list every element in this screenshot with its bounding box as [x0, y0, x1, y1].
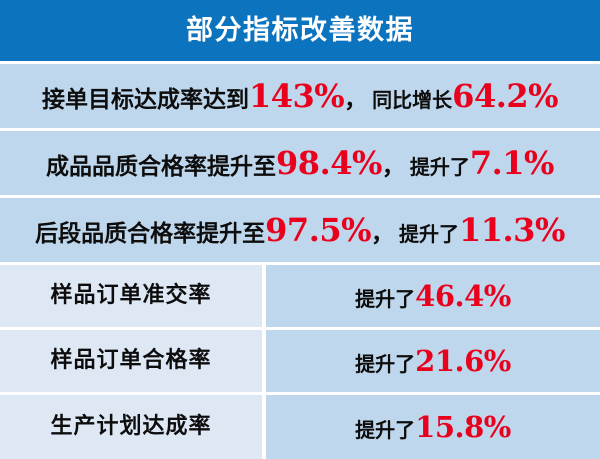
row-mid-text: 提升了 — [399, 224, 459, 244]
metric-value: 46.4% — [415, 282, 511, 311]
infographic-poster: 部分指标改善数据 接单目标达成率达到 143% ， 同比增长 64.2% 成品品… — [0, 0, 600, 452]
row-mid-text: 同比增长 — [372, 90, 452, 110]
table-row: 接单目标达成率达到 143% ， 同比增长 64.2% — [0, 64, 600, 128]
table-cell-value: 提升了 46.4% — [266, 265, 600, 327]
row-value-secondary: 7.1% — [470, 147, 554, 179]
metrics-table: 接单目标达成率达到 143% ， 同比增长 64.2% 成品品质合格率提升至 9… — [0, 61, 600, 459]
row-lead-text: 接单目标达成率达到 — [42, 89, 249, 112]
metric-label: 样品订单合格率 — [50, 350, 211, 372]
row-value-primary: 97.5% — [265, 214, 371, 246]
row-value-primary: 98.4% — [276, 147, 382, 179]
value-prefix: 提升了 — [355, 354, 415, 374]
table-cell-label: 样品订单准交率 — [0, 265, 262, 327]
table-row: 样品订单准交率 提升了 46.4% — [0, 265, 600, 327]
row-value-primary: 143% — [249, 80, 344, 112]
metric-value: 21.6% — [415, 347, 511, 376]
row-value-secondary: 11.3% — [459, 214, 565, 246]
table-cell-value: 提升了 15.8% — [266, 395, 600, 459]
row-lead-text: 成品品质合格率提升至 — [46, 156, 276, 179]
row-lead-text: 后段品质合格率提升至 — [35, 223, 265, 246]
table-row: 生产计划达成率 提升了 15.8% — [0, 395, 600, 459]
table-row: 后段品质合格率提升至 97.5% ， 提升了 11.3% — [0, 198, 600, 262]
metric-value: 15.8% — [415, 413, 511, 442]
table-cell-label: 样品订单合格率 — [0, 330, 262, 392]
value-prefix: 提升了 — [355, 289, 415, 309]
row-separator: ， — [344, 89, 372, 112]
table-cell-label: 生产计划达成率 — [0, 395, 262, 459]
row-mid-text: 提升了 — [410, 157, 470, 177]
metric-label: 生产计划达成率 — [50, 416, 211, 438]
header-bar: 部分指标改善数据 — [0, 0, 600, 61]
row-value-secondary: 64.2% — [452, 80, 558, 112]
value-prefix: 提升了 — [355, 420, 415, 440]
row-separator: ， — [371, 223, 399, 246]
metric-label: 样品订单准交率 — [50, 285, 211, 307]
page-title: 部分指标改善数据 — [186, 17, 414, 44]
table-row: 成品品质合格率提升至 98.4% ， 提升了 7.1% — [0, 131, 600, 195]
table-row: 样品订单合格率 提升了 21.6% — [0, 330, 600, 392]
table-cell-value: 提升了 21.6% — [266, 330, 600, 392]
row-separator: ， — [382, 156, 410, 179]
